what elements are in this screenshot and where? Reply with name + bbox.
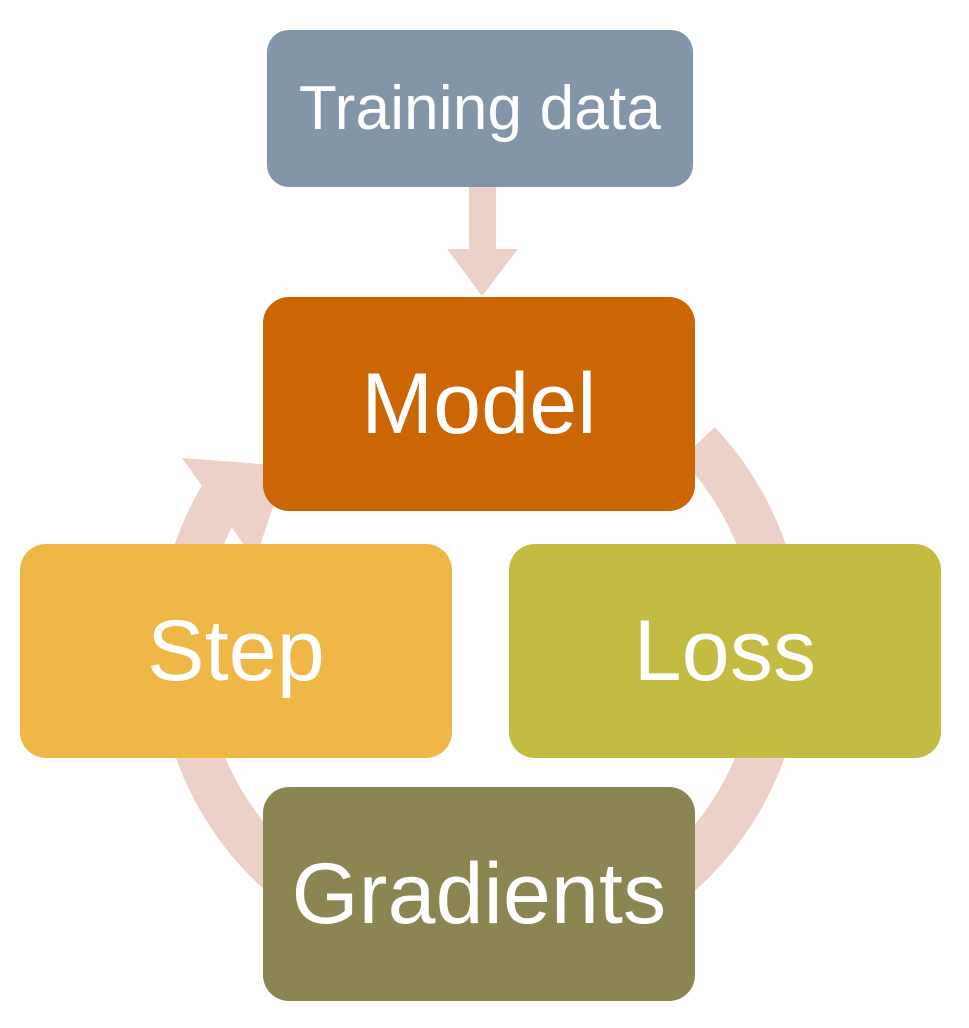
node-step[interactable]: Step <box>20 544 452 758</box>
feed-arrow <box>447 186 518 296</box>
training-loop-diagram: Training data Model Loss Gradients Step <box>0 0 969 1028</box>
node-gradients[interactable]: Gradients <box>263 787 695 1001</box>
node-step-label: Step <box>147 608 325 694</box>
node-model[interactable]: Model <box>263 297 695 511</box>
node-training-data-label: Training data <box>299 78 661 140</box>
node-loss-label: Loss <box>634 608 816 694</box>
node-loss[interactable]: Loss <box>509 544 941 758</box>
feed-arrowhead-icon <box>447 249 518 296</box>
node-training-data[interactable]: Training data <box>267 30 693 187</box>
node-model-label: Model <box>361 361 596 447</box>
node-gradients-label: Gradients <box>292 851 667 937</box>
